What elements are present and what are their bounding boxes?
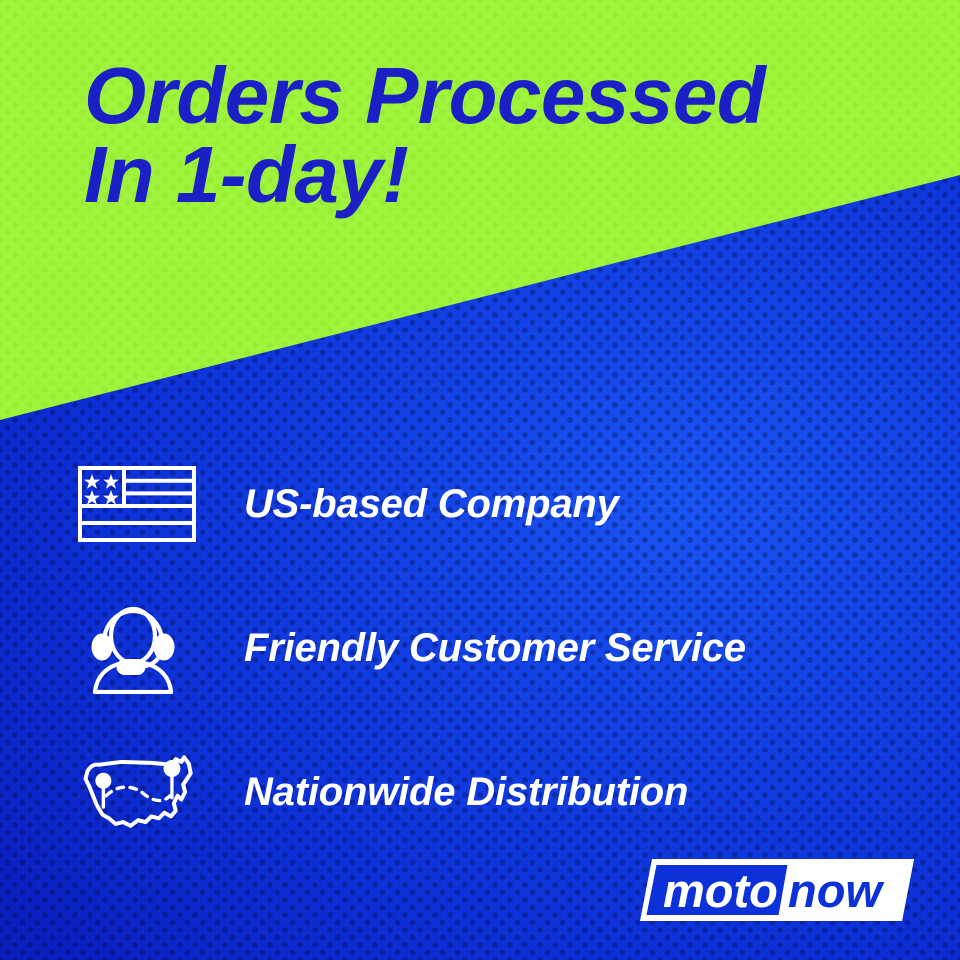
logo-text-moto: moto — [663, 864, 778, 917]
headset-icon — [78, 602, 202, 694]
promo-poster: Orders Processed In 1-day! — [0, 0, 960, 960]
page-title: Orders Processed In 1-day! — [84, 56, 924, 214]
feature-label-nationwide: Nationwide Distribution — [244, 770, 688, 815]
feature-list: US-based Company — [0, 432, 960, 864]
feature-item-nationwide: Nationwide Distribution — [0, 720, 960, 864]
motonow-logo[interactable]: moto now — [637, 856, 917, 924]
logo-text-now: now — [788, 864, 885, 917]
feature-label-us-based: US-based Company — [244, 482, 619, 527]
us-flag-icon — [78, 466, 202, 542]
us-map-pins-icon — [78, 748, 202, 836]
feature-label-customer-service: Friendly Customer Service — [244, 626, 746, 671]
feature-item-us-based: US-based Company — [0, 432, 960, 576]
feature-item-customer-service: Friendly Customer Service — [0, 576, 960, 720]
